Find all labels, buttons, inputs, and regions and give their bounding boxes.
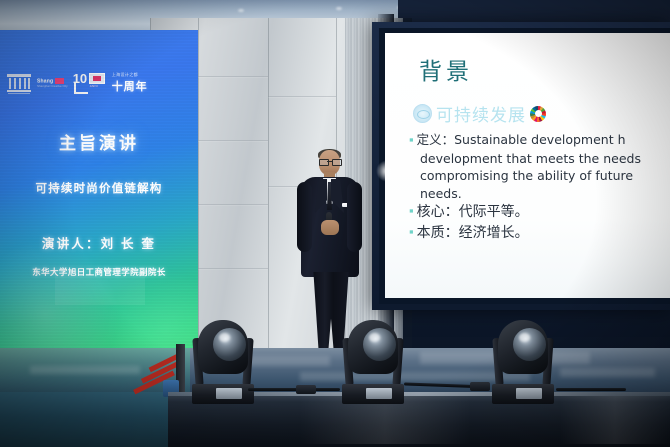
- keynote-topic: 可持续时尚价值链解构: [0, 180, 198, 196]
- light-control-panel: [516, 388, 542, 399]
- city-logo-text: Shang Shanghai Creative City: [37, 78, 68, 88]
- light-head: [348, 320, 398, 374]
- anniversary-text-block: 上海设计之都 十周年: [112, 72, 148, 94]
- moving-head-stage-light: [340, 318, 406, 404]
- anniversary-text: 十周年: [112, 78, 148, 94]
- stage-light-cable: [248, 388, 340, 391]
- ceiling-downlight-icon: [336, 7, 342, 10]
- light-base: [192, 384, 254, 404]
- keynote-speaker-name: 演讲人：刘 长 奎: [0, 233, 198, 252]
- bullet-text: 定义：Sustainable development h: [417, 131, 626, 149]
- keynote-speaker-affiliation: 东华大学旭日工商管理学院副院长: [0, 266, 198, 278]
- moving-head-stage-light: [490, 318, 556, 404]
- screen-light-flare: [376, 160, 398, 182]
- speaker-arm-left: [297, 182, 312, 252]
- light-control-panel: [366, 388, 392, 399]
- slide-title: 背景: [419, 52, 473, 86]
- red-stage-prop: [130, 352, 188, 396]
- logo-chip: [55, 78, 64, 84]
- light-head: [198, 320, 248, 374]
- slide-section-heading: 可持续发展: [436, 101, 526, 126]
- bullet-dot-icon: ▪: [409, 223, 414, 240]
- speaker-arm-right: [347, 182, 362, 252]
- light-lens-icon: [213, 328, 246, 361]
- anniversary-flag-tag: ANNI: [90, 84, 98, 88]
- cable-connector-box: [296, 385, 316, 394]
- led-faint-panel: [55, 275, 145, 305]
- stage-light-cable: [556, 388, 626, 391]
- conference-stage-photo: Shang Shanghai Creative City 10 ANNI 上海设…: [0, 0, 670, 447]
- speaker-hands: [321, 220, 339, 235]
- cable-connector-box: [470, 382, 490, 391]
- light-lens-icon: [513, 328, 546, 361]
- un-emblem-icon: [413, 104, 432, 123]
- bullet-text: 本质：经济增长。: [417, 223, 529, 243]
- bullet-continuation: development that meets the needs: [409, 150, 670, 168]
- sdg-wheel-icon: [530, 106, 546, 122]
- light-base: [492, 384, 554, 404]
- anniversary-mark-icon: 10 ANNI: [73, 72, 107, 94]
- moving-head-stage-light: [190, 318, 256, 404]
- city-logo-line1: Shang: [37, 78, 53, 84]
- led-glow: [0, 240, 120, 360]
- anniversary-small-text: 上海设计之都: [112, 72, 148, 78]
- slide-bullet-item: ▪ 本质：经济增长。: [409, 223, 670, 243]
- presentation-slide: 背景 可持续发展 ▪ 定义：Sustainable development h …: [385, 33, 670, 298]
- light-lens-icon: [363, 328, 396, 361]
- light-head: [498, 320, 548, 374]
- bullet-dot-icon: ▪: [409, 131, 414, 148]
- ceiling-downlight-icon: [238, 9, 244, 12]
- city-logo-line2: Shanghai Creative City: [37, 84, 68, 88]
- slide-section-heading-row: 可持续发展: [413, 101, 546, 126]
- bullet-dot-icon: ▪: [409, 202, 414, 219]
- light-control-panel: [216, 388, 242, 399]
- bullet-text: 核心：代际平等。: [417, 202, 529, 222]
- event-logo-row: Shang Shanghai Creative City 10 ANNI 上海设…: [6, 68, 191, 98]
- left-led-screen: Shang Shanghai Creative City 10 ANNI 上海设…: [0, 30, 198, 360]
- unesco-temple-icon: [6, 72, 32, 94]
- speaker-glasses-icon: [319, 159, 340, 164]
- slide-bullet-list: ▪ 定义：Sustainable development h developme…: [409, 131, 670, 244]
- keynote-heading: 主旨演讲: [0, 129, 198, 154]
- bullet-continuation: needs.: [409, 185, 670, 203]
- stage-floor-left-lower: [0, 392, 170, 447]
- slide-bullet-item: ▪ 核心：代际平等。: [409, 202, 670, 222]
- light-base: [342, 384, 404, 404]
- slide-bullet-item: ▪ 定义：Sustainable development h: [409, 131, 670, 149]
- bullet-continuation: compromising the ability of future: [409, 167, 670, 185]
- anniversary-number: 10: [73, 72, 87, 85]
